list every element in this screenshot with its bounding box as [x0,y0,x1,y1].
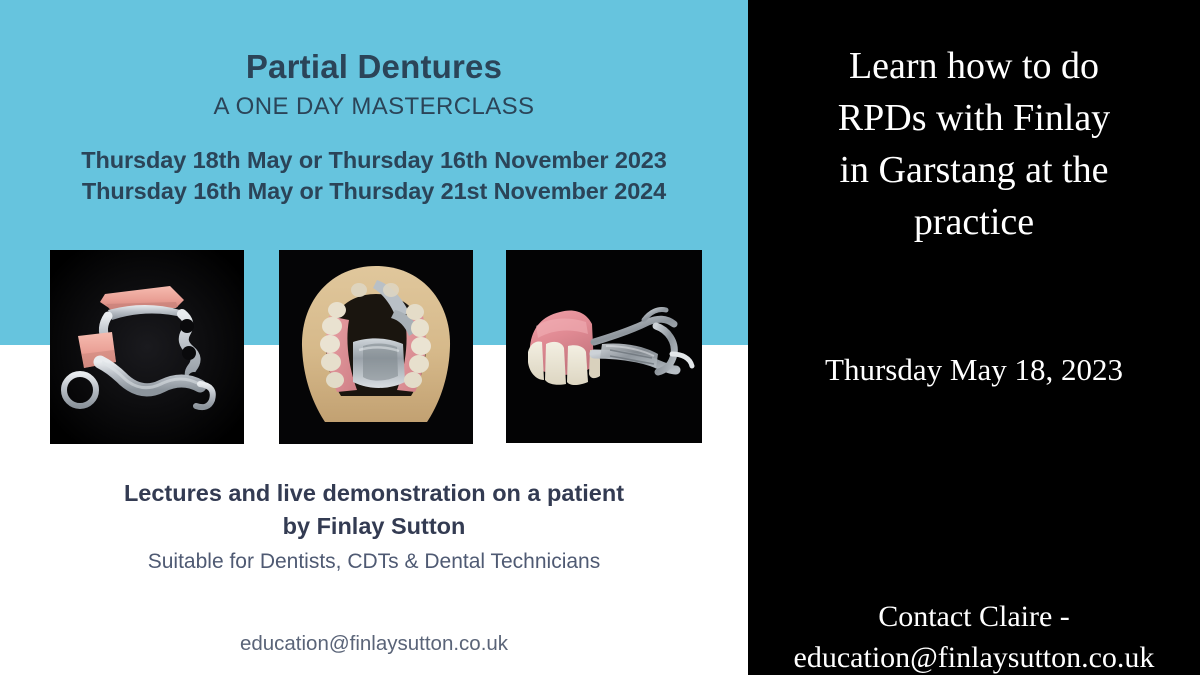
partial-dentures-masterclass-poster: Partial Dentures A ONE DAY MASTERCLASS T… [0,0,1200,675]
right-headline-line-3: in Garstang at the [760,144,1188,196]
audience-line: Suitable for Dentists, CDTs & Dental Tec… [0,550,748,574]
right-headline: Learn how to do RPDs with Finlay in Gars… [760,40,1188,248]
photo-anterior-partial-denture-side-view [506,250,702,443]
right-headline-line-1: Learn how to do [760,40,1188,92]
right-headline-line-2: RPDs with Finlay [760,92,1188,144]
left-poster-panel: Partial Dentures A ONE DAY MASTERCLASS T… [0,0,748,675]
poster-subtitle: A ONE DAY MASTERCLASS [0,93,748,121]
photo-upper-partial-denture-on-cast [279,250,473,444]
contact-email-left[interactable]: education@finlaysutton.co.uk [0,632,748,656]
contact-email-right[interactable]: education@finlaysutton.co.uk [760,637,1188,675]
right-info-panel: Learn how to do RPDs with Finlay in Gars… [748,0,1200,675]
right-headline-line-4: practice [760,196,1188,248]
course-date-line-1: Thursday 18th May or Thursday 16th Novem… [0,145,748,176]
contact-block: Contact Claire - education@finlaysutton.… [760,596,1188,675]
photo-cobalt-chrome-partial-denture-framework [50,250,244,444]
lecture-line-1: Lectures and live demonstration on a pat… [0,477,748,510]
course-date-line-2: Thursday 16th May or Thursday 21st Novem… [0,176,748,207]
contact-name-line: Contact Claire - [760,596,1188,637]
denture-photo-strip [0,250,748,445]
poster-title: Partial Dentures [0,48,748,86]
lecture-description: Lectures and live demonstration on a pat… [0,477,748,543]
course-dates: Thursday 18th May or Thursday 16th Novem… [0,145,748,207]
lecture-line-2: by Finlay Sutton [0,510,748,543]
event-date: Thursday May 18, 2023 [760,352,1188,388]
